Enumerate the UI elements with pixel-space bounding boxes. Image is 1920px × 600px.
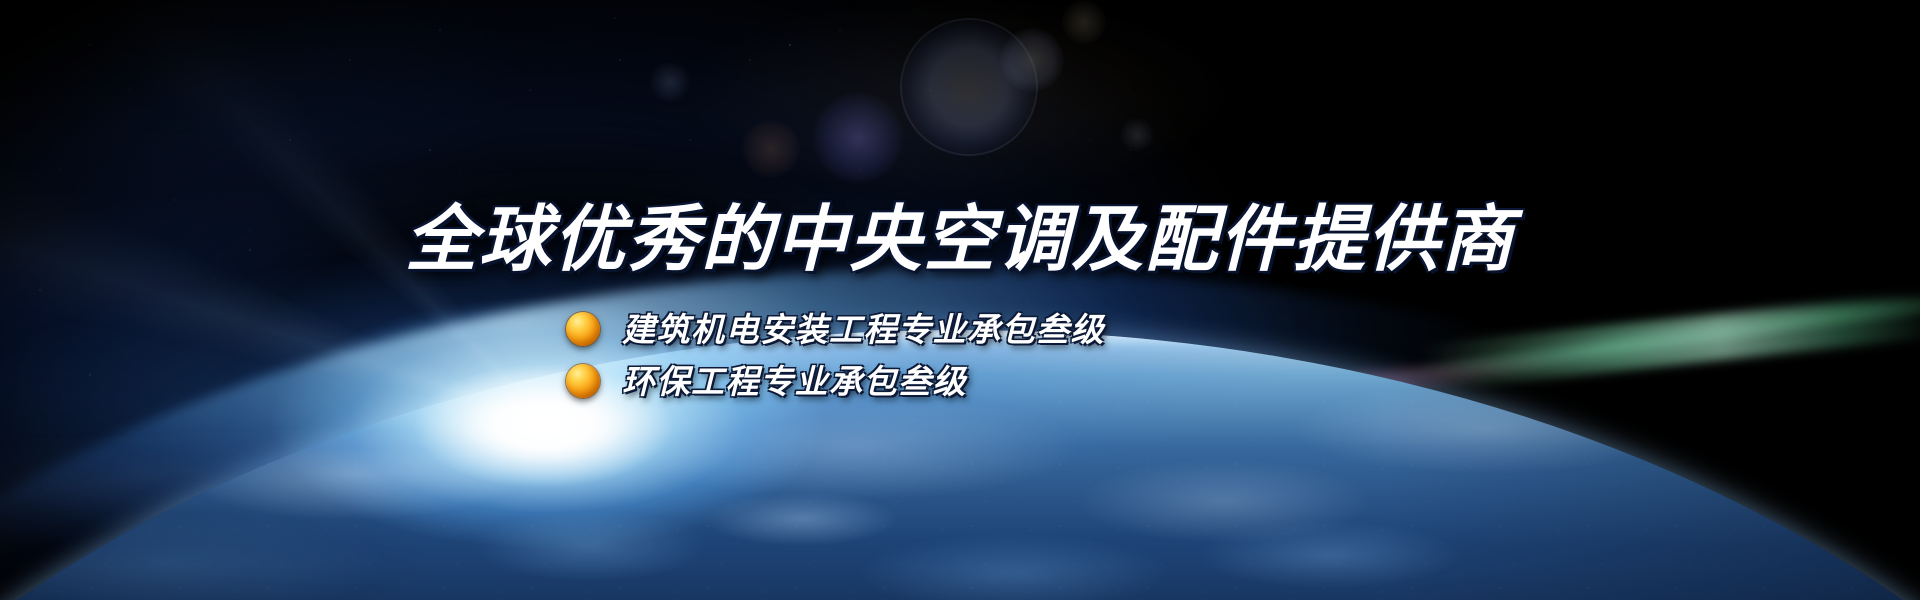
hero-banner: 全球优秀的中央空调及配件提供商 建筑机电安装工程专业承包叁级 环保工程专业承包叁… [0, 0, 1920, 600]
bullet-label: 建筑机电安装工程专业承包叁级 [622, 313, 1105, 346]
list-item: 环保工程专业承包叁级 [566, 364, 1105, 398]
orange-sphere-bullet-icon [566, 364, 600, 398]
bullet-label: 环保工程专业承包叁级 [622, 365, 967, 398]
banner-bullet-list: 建筑机电安装工程专业承包叁级 环保工程专业承包叁级 [566, 312, 1105, 398]
banner-headline: 全球优秀的中央空调及配件提供商 [0, 204, 1920, 276]
orange-sphere-bullet-icon [566, 312, 600, 346]
banner-content: 全球优秀的中央空调及配件提供商 建筑机电安装工程专业承包叁级 环保工程专业承包叁… [0, 0, 1920, 600]
list-item: 建筑机电安装工程专业承包叁级 [566, 312, 1105, 346]
